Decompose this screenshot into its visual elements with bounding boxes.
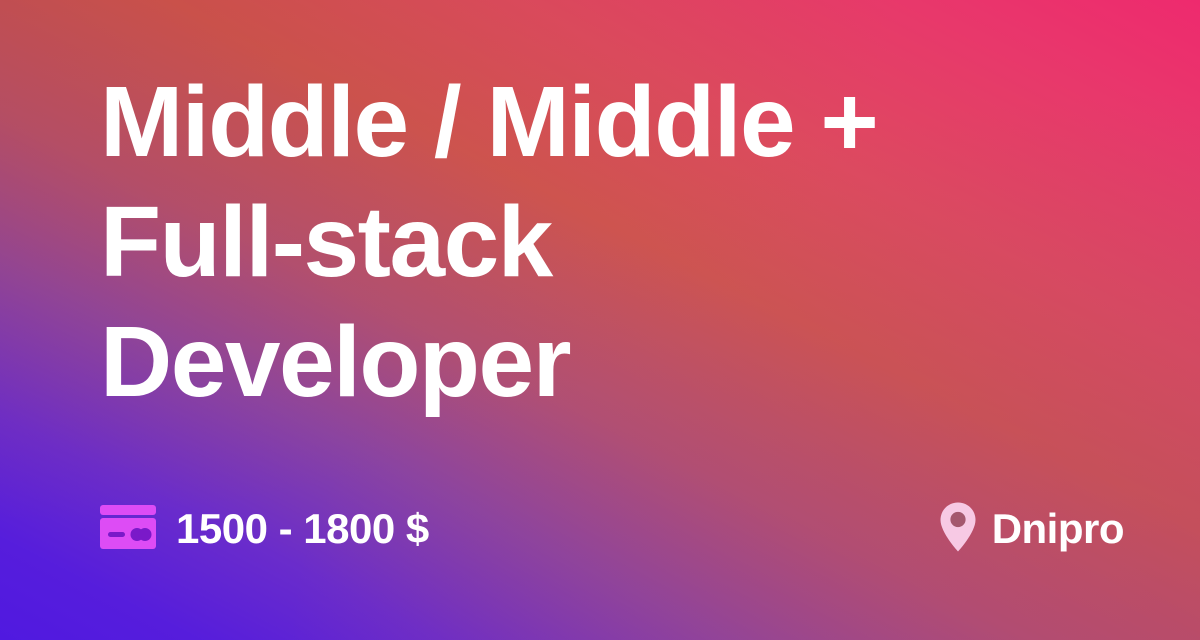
map-pin-icon bbox=[940, 502, 976, 557]
salary-item: 1500 - 1800 $ bbox=[100, 505, 429, 554]
salary-value: 1500 - 1800 $ bbox=[176, 508, 429, 550]
location-value: Dnipro bbox=[992, 508, 1124, 550]
card-content: Middle / Middle + Full-stack Developer 1… bbox=[0, 0, 1200, 640]
location-item: Dnipro bbox=[940, 502, 1124, 557]
credit-card-icon bbox=[100, 505, 156, 554]
job-meta-row: 1500 - 1800 $ Dnipro bbox=[100, 498, 1124, 560]
job-banner-card: Middle / Middle + Full-stack Developer 1… bbox=[0, 0, 1200, 640]
job-title: Middle / Middle + Full-stack Developer bbox=[100, 62, 1100, 422]
